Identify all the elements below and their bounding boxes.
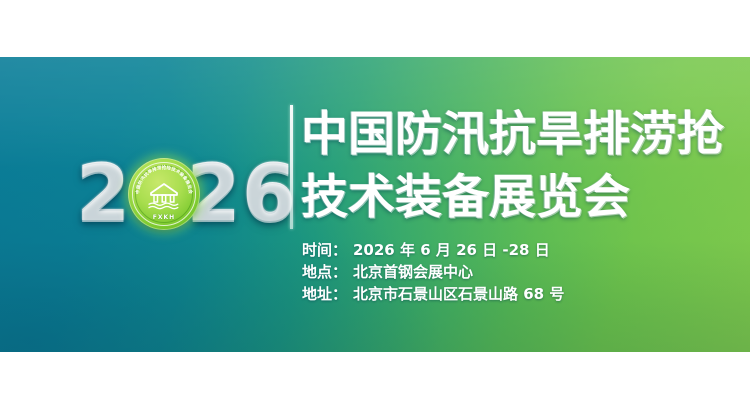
detail-label-venue: 地点： bbox=[302, 261, 348, 283]
exhibition-emblem-icon: 中国防汛抗旱排涝抢险技术装备展览会 FXKH bbox=[128, 158, 200, 230]
headline-line-2: 技术装备展览会 bbox=[301, 167, 750, 229]
poster-root: 2026 中国防汛抗旱排涝抢险技术装备展览会 bbox=[0, 0, 750, 410]
emblem-gate-water-icon bbox=[145, 180, 183, 210]
detail-row-time: 时间：2026 年 6 月 26 日 -28 日 bbox=[302, 239, 750, 261]
detail-row-venue: 地点：北京首钢会展中心 bbox=[302, 261, 750, 283]
headline-block: 中国防汛抗旱排涝抢 技术装备展览会 时间：2026 年 6 月 26 日 -28… bbox=[301, 100, 750, 305]
detail-label-address: 地址： bbox=[302, 283, 348, 305]
emblem-caption: FXKH bbox=[128, 214, 200, 221]
event-details: 时间：2026 年 6 月 26 日 -28 日 地点：北京首钢会展中心 地址：… bbox=[301, 239, 750, 305]
vertical-divider bbox=[290, 105, 293, 229]
headline-line-1: 中国防汛抗旱排涝抢 bbox=[301, 104, 750, 166]
detail-value-venue: 北京首钢会展中心 bbox=[353, 261, 473, 283]
year-block: 2026 中国防汛抗旱排涝抢险技术装备展览会 bbox=[76, 152, 281, 236]
detail-row-address: 地址：北京市石景山区石景山路 68 号 bbox=[302, 283, 750, 305]
detail-value-address: 北京市石景山区石景山路 68 号 bbox=[353, 283, 564, 305]
detail-value-time: 2026 年 6 月 26 日 -28 日 bbox=[353, 239, 550, 261]
detail-label-time: 时间： bbox=[302, 239, 348, 261]
